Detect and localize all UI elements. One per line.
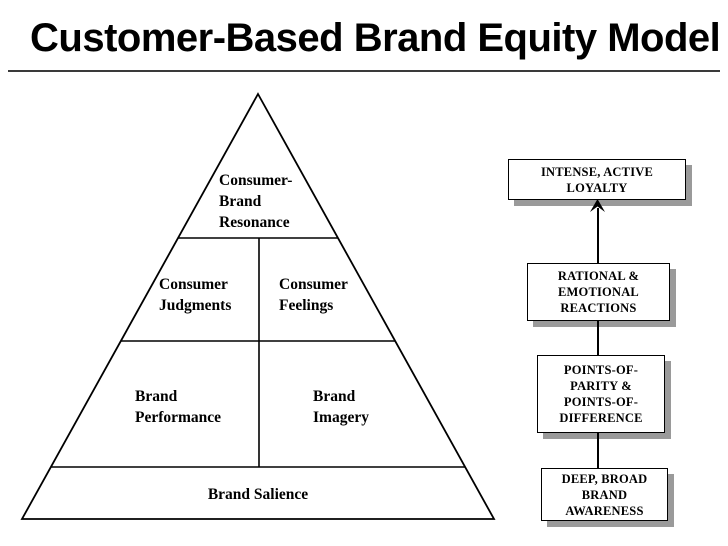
flow-box-awareness-label: DEEP, BROAD BRAND AWARENESS <box>562 471 648 519</box>
title-divider <box>8 70 720 72</box>
flow-box-awareness: DEEP, BROAD BRAND AWARENESS <box>541 468 668 521</box>
flow-box-reactions-label: RATIONAL & EMOTIONAL REACTIONS <box>558 268 639 316</box>
connector-reactions-to-loyalty <box>597 208 599 264</box>
pyramid-tier-resonance: Consumer- Brand Resonance <box>219 170 349 233</box>
flow-box-loyalty: INTENSE, ACTIVE LOYALTY <box>508 159 686 200</box>
flow-box-points-of-parity-difference: POINTS-OF- PARITY & POINTS-OF- DIFFERENC… <box>537 355 665 433</box>
connector-points-to-reactions <box>597 321 599 356</box>
arrow-up-icon <box>589 199 606 213</box>
page-title: Customer-Based Brand Equity Model <box>30 14 710 64</box>
pyramid-tier-imagery: Brand Imagery <box>313 386 423 428</box>
pyramid-tier-salience: Brand Salience <box>22 484 494 505</box>
connector-awareness-to-points <box>597 433 599 469</box>
pyramid-tier-judgments: Consumer Judgments <box>159 274 264 316</box>
flow-box-points-label: POINTS-OF- PARITY & POINTS-OF- DIFFERENC… <box>559 362 642 426</box>
slide-canvas: Customer-Based Brand Equity Model Consum… <box>0 0 728 546</box>
flow-box-reactions: RATIONAL & EMOTIONAL REACTIONS <box>527 263 670 321</box>
flow-box-loyalty-label: INTENSE, ACTIVE LOYALTY <box>541 164 653 196</box>
pyramid-tier-performance: Brand Performance <box>135 386 265 428</box>
pyramid-tier-feelings: Consumer Feelings <box>279 274 384 316</box>
